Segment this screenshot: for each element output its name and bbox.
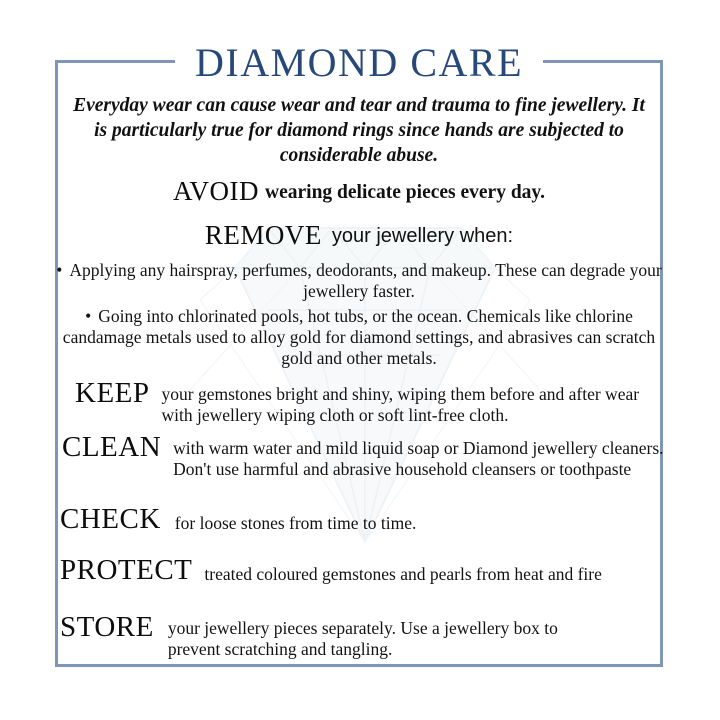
tip-text: your jewellery pieces separately. Use a … xyxy=(168,612,598,660)
tip-text: your gemstones bright and shiny, wiping … xyxy=(162,378,662,426)
bullet-text: Applying any hairspray, perfumes, deodor… xyxy=(69,260,661,301)
remove-keyword: REMOVE xyxy=(205,220,322,250)
list-item: •Going into chlorinated pools, hot tubs,… xyxy=(55,306,663,369)
bullet-marker: • xyxy=(85,306,91,326)
tip-keyword: STORE xyxy=(60,612,154,642)
tip-row-keep: KEEP your gemstones bright and shiny, wi… xyxy=(75,378,662,426)
intro-paragraph: Everyday wear can cause wear and tear an… xyxy=(69,93,649,168)
tip-row-clean: CLEAN with warm water and mild liquid so… xyxy=(62,432,673,480)
tip-keyword: CLEAN xyxy=(62,432,161,462)
tip-row-store: STORE your jewellery pieces separately. … xyxy=(60,612,598,660)
remove-text: your jewellery when: xyxy=(332,225,513,247)
page-title: DIAMOND CARE xyxy=(55,41,663,85)
tip-keyword: PROTECT xyxy=(60,555,192,585)
tip-text: treated coloured gemstones and pearls fr… xyxy=(204,555,634,585)
list-item: •Applying any hairspray, perfumes, deodo… xyxy=(55,260,663,302)
tip-row-protect: PROTECT treated coloured gemstones and p… xyxy=(60,555,634,585)
poster-canvas: DIAMOND CARE Everyday wear can cause wea… xyxy=(0,0,720,720)
tip-row-check: CHECK for loose stones from time to time… xyxy=(60,504,635,534)
tip-keyword: KEEP xyxy=(75,378,150,408)
remove-line: REMOVEyour jewellery when: xyxy=(55,220,663,251)
tip-text: with warm water and mild liquid soap or … xyxy=(173,432,673,480)
tip-keyword: CHECK xyxy=(60,504,161,534)
poster-content: DIAMOND CARE Everyday wear can cause wea… xyxy=(55,60,663,667)
avoid-text: wearing delicate pieces every day. xyxy=(265,182,545,203)
avoid-line: AVOIDwearing delicate pieces every day. xyxy=(55,176,663,207)
tip-text: for loose stones from time to time. xyxy=(175,504,635,534)
avoid-keyword: AVOID xyxy=(173,176,259,206)
bullet-text: Going into chlorinated pools, hot tubs, … xyxy=(63,306,655,368)
bullet-marker: • xyxy=(56,260,62,280)
